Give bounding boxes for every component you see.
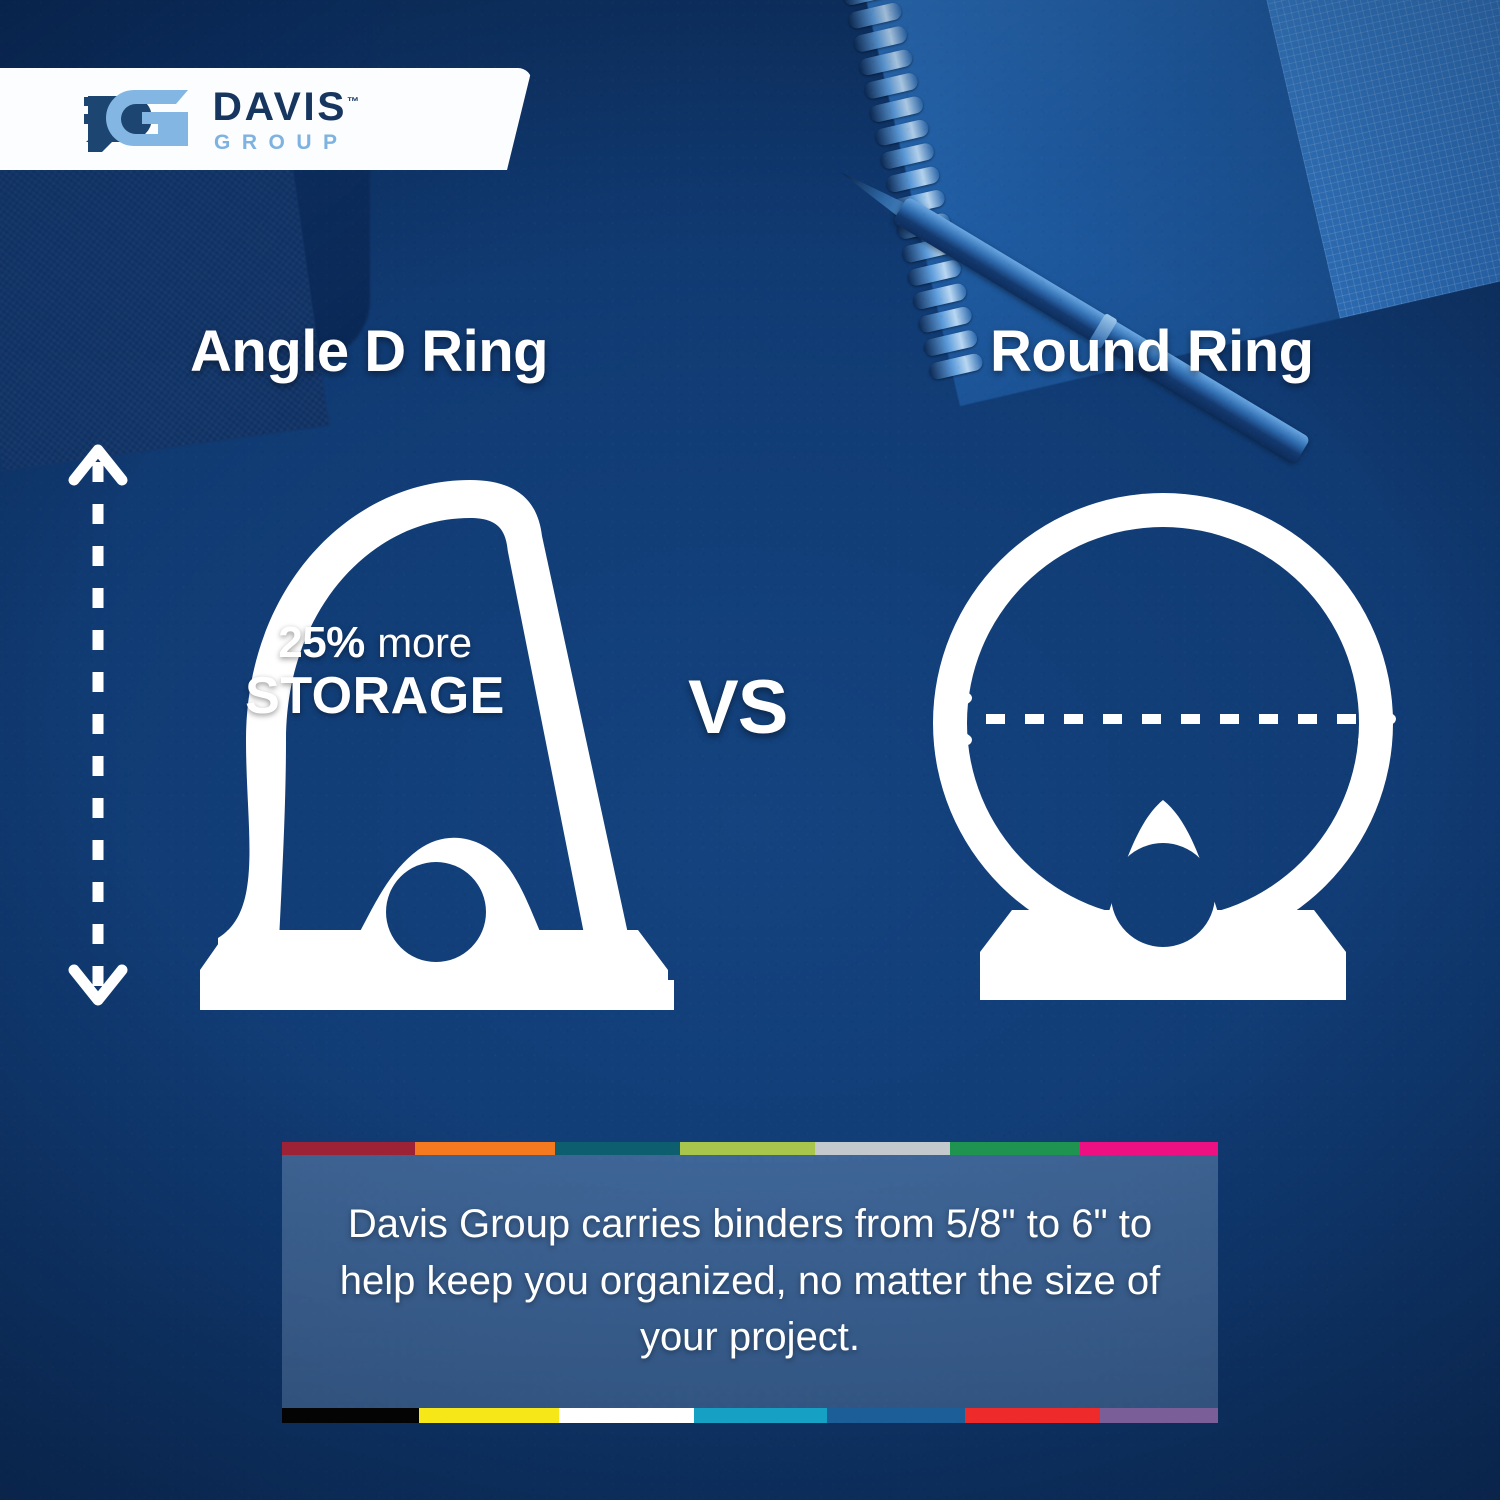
brand-subname: GROUP	[214, 132, 358, 153]
logo-lockup: DAVIS™ GROUP	[0, 84, 358, 154]
color-swatch	[950, 1142, 1080, 1155]
color-swatch	[965, 1408, 1100, 1423]
storage-percent: 25%	[278, 618, 365, 667]
brand-name-text: DAVIS	[213, 85, 347, 129]
color-swatch	[815, 1142, 950, 1155]
brand-name: DAVIS™	[213, 87, 360, 127]
left-heading: Angle D Ring	[190, 318, 548, 385]
color-swatch	[559, 1408, 694, 1423]
horizontal-double-arrow-dashed-icon	[925, 690, 1405, 748]
caption-panel: Davis Group carries binders from 5/8" to…	[282, 1142, 1218, 1420]
color-swatch	[555, 1142, 680, 1155]
color-swatch	[694, 1408, 827, 1423]
wordmark: DAVIS™ GROUP	[214, 85, 358, 153]
versus-label: VS	[688, 664, 787, 751]
color-swatch	[1080, 1142, 1218, 1155]
color-bar-bottom	[282, 1408, 1218, 1423]
color-bar-top	[282, 1142, 1218, 1155]
caption-text: Davis Group carries binders from 5/8" to…	[282, 1196, 1218, 1366]
color-swatch	[680, 1142, 815, 1155]
dg-monogram-icon	[84, 84, 192, 154]
logo-banner: DAVIS™ GROUP	[0, 68, 532, 170]
color-swatch	[827, 1408, 965, 1423]
color-swatch	[282, 1408, 419, 1423]
storage-word: STORAGE	[240, 666, 510, 726]
color-swatch	[419, 1408, 559, 1423]
trademark-symbol: ™	[347, 95, 359, 109]
color-swatch	[1100, 1408, 1218, 1423]
color-swatch	[415, 1142, 555, 1155]
color-swatch	[282, 1142, 415, 1155]
right-heading: Round Ring	[990, 318, 1314, 385]
storage-badge: 25% more STORAGE	[240, 618, 510, 726]
storage-more-label: more	[377, 619, 472, 666]
infographic-canvas: DAVIS™ GROUP Angle D Ring Round Ring	[0, 0, 1500, 1500]
